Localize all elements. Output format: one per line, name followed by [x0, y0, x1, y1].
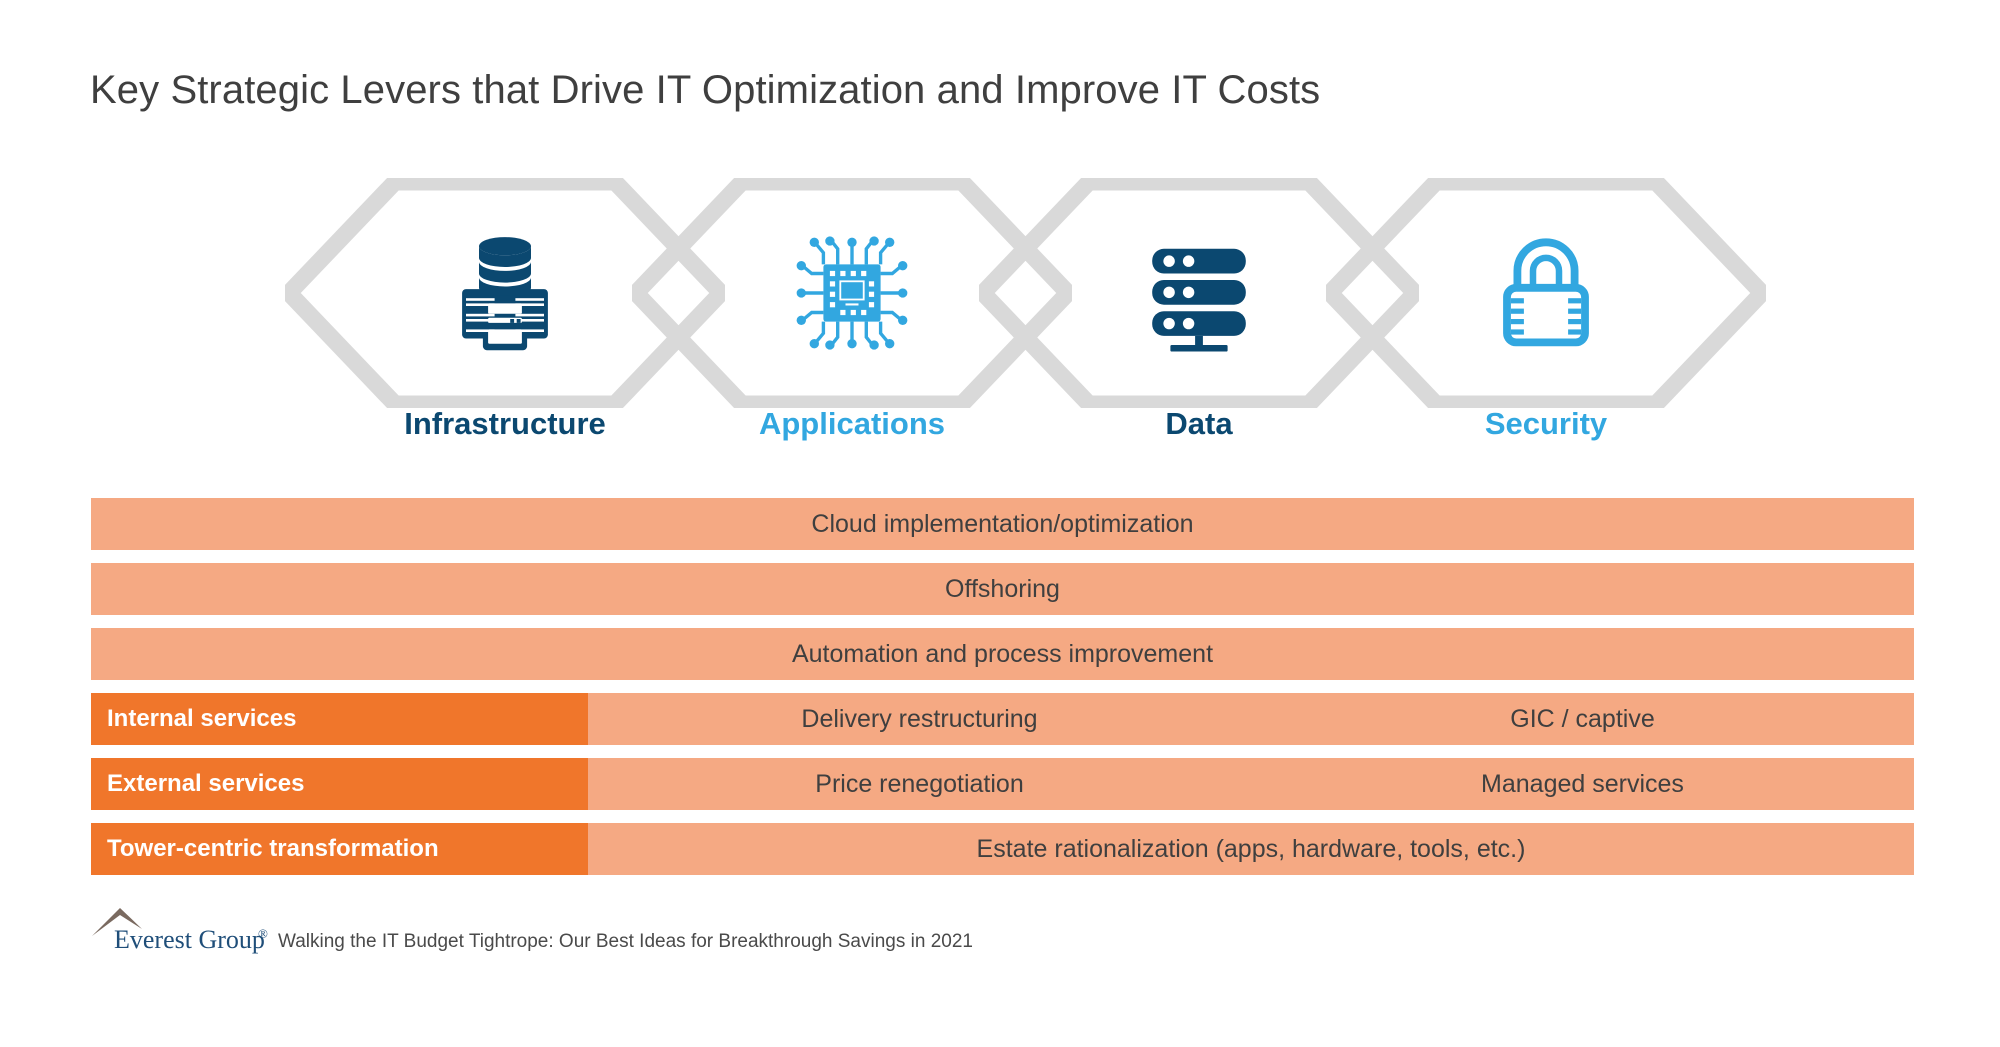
lever-bar-automation[interactable]: Automation and process improvement [91, 628, 1914, 680]
svg-text:Everest Group: Everest Group [114, 925, 265, 954]
pillar-label-security: Security [1326, 406, 1766, 442]
lever-bar-cloud[interactable]: Cloud implementation/optimization [91, 498, 1914, 550]
lever-label-external-services[interactable]: External services [91, 758, 588, 810]
everest-group-logo: Everest Group ® [90, 902, 272, 960]
lever-bars: Cloud implementation/optimization Offsho… [91, 498, 1914, 888]
lever-cell-price-renegotiation[interactable]: Price renegotiation [588, 758, 1251, 810]
lever-label-tower-centric-transformation[interactable]: Tower-centric transformation [91, 823, 588, 875]
lever-row-full: Offshoring [91, 563, 1914, 615]
lever-cell-managed-services[interactable]: Managed services [1251, 758, 1914, 810]
footer-caption: Walking the IT Budget Tightrope: Our Bes… [272, 931, 973, 960]
server-database-icon [440, 228, 570, 358]
lever-row-labeled: Internal services Delivery restructuring… [91, 693, 1914, 745]
padlock-icon [1481, 228, 1611, 358]
lever-bar-offshoring[interactable]: Offshoring [91, 563, 1914, 615]
lever-row-labeled: Tower-centric transformation Estate rati… [91, 823, 1914, 875]
lever-cell-delivery-restructuring[interactable]: Delivery restructuring [588, 693, 1251, 745]
pillar-hexagon-row [285, 178, 1725, 408]
lever-row-full: Cloud implementation/optimization [91, 498, 1914, 550]
page-title: Key Strategic Levers that Drive IT Optim… [90, 68, 1320, 113]
lever-label-internal-services[interactable]: Internal services [91, 693, 588, 745]
pillar-label-row: Infrastructure Applications Data Securit… [285, 406, 1725, 454]
lever-cell-estate-rationalization[interactable]: Estate rationalization (apps, hardware, … [588, 823, 1914, 875]
mountain-peak-icon: Everest Group ® [90, 902, 272, 960]
svg-text:®: ® [258, 926, 268, 941]
lever-cell-gic-captive[interactable]: GIC / captive [1251, 693, 1914, 745]
lever-row-full: Automation and process improvement [91, 628, 1914, 680]
pillar-hexagon-security[interactable] [1326, 178, 1766, 408]
lever-row-labeled: External services Price renegotiation Ma… [91, 758, 1914, 810]
microchip-icon [787, 228, 917, 358]
server-rack-icon [1134, 228, 1264, 358]
footer: Everest Group ® Walking the IT Budget Ti… [90, 898, 973, 960]
